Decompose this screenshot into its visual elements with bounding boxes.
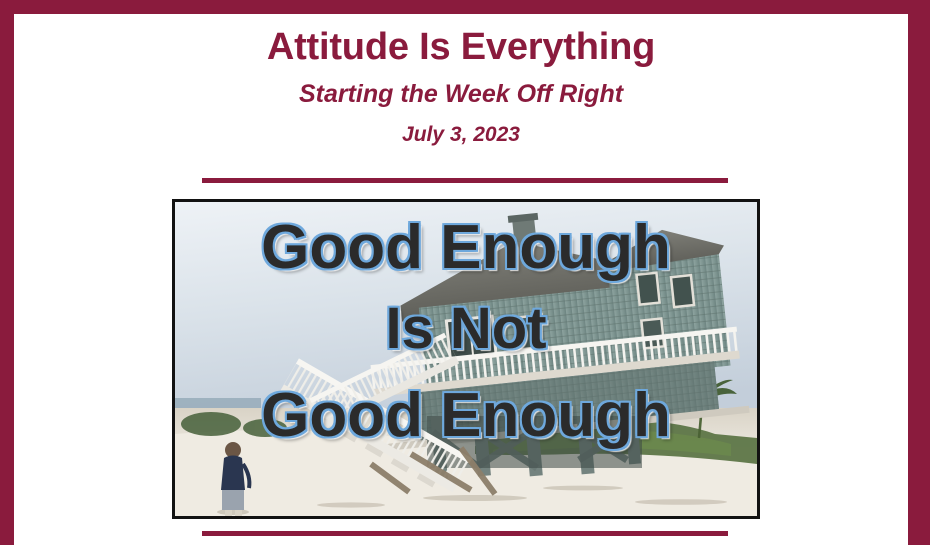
newsletter-photo: Good Enough Is Not Good Enough bbox=[172, 199, 760, 519]
page-subtitle: Starting the Week Off Right bbox=[14, 66, 908, 107]
page-date: July 3, 2023 bbox=[14, 107, 908, 145]
photo-illustration bbox=[175, 202, 757, 516]
newsletter-header: Attitude Is Everything Starting the Week… bbox=[14, 14, 908, 145]
content-sheet: Attitude Is Everything Starting the Week… bbox=[14, 14, 908, 545]
footer-divider bbox=[202, 531, 728, 536]
page-title: Attitude Is Everything bbox=[14, 28, 908, 66]
header-divider bbox=[202, 178, 728, 183]
newsletter-page: Attitude Is Everything Starting the Week… bbox=[0, 0, 930, 545]
